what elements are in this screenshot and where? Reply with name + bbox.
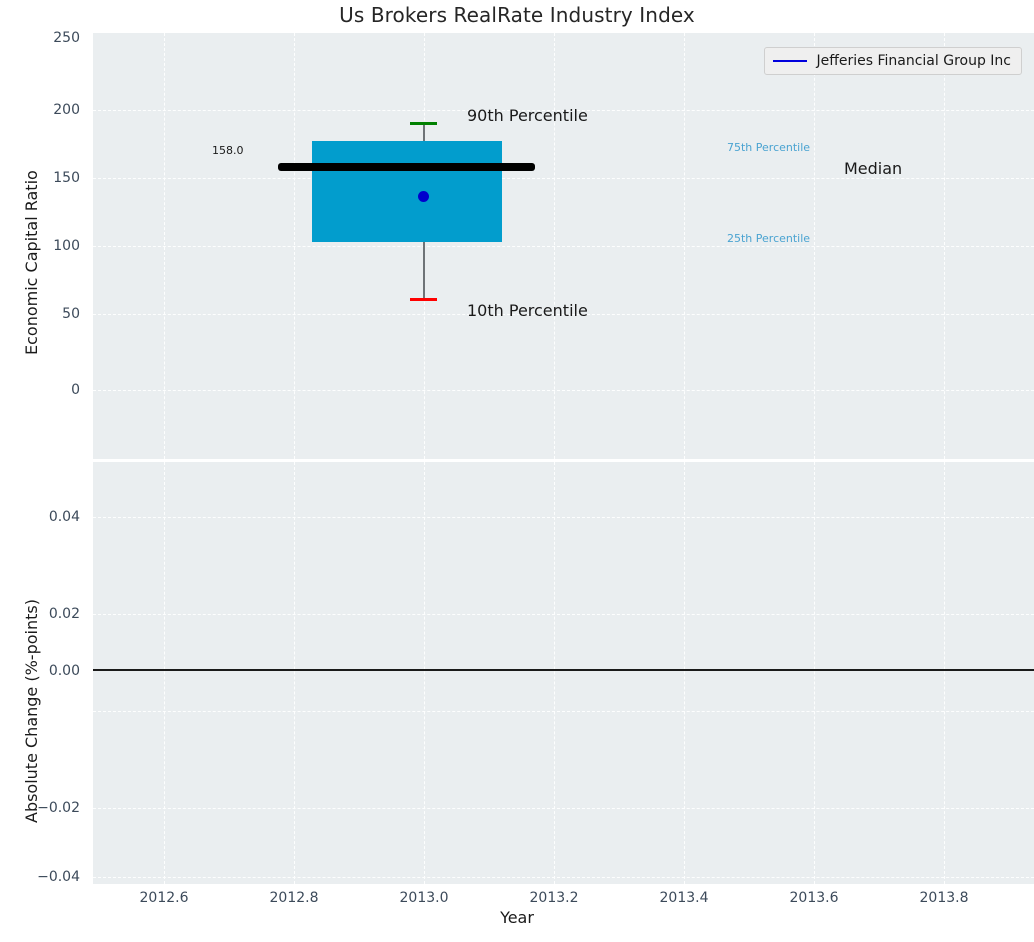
gridline-v-2012.8 (294, 462, 295, 884)
gridline-v-2012.8 (294, 33, 295, 459)
gridline-h-150 (93, 178, 1034, 179)
xtick-2013.0: 2013.0 (400, 890, 449, 906)
plot-area-absolute-change (93, 462, 1034, 884)
p10-cap-icon (410, 298, 437, 301)
median-bar (278, 163, 535, 171)
legend[interactable]: Jefferies Financial Group Inc (764, 47, 1022, 75)
company-value-dot (418, 191, 429, 202)
p90-label: 90th Percentile (467, 106, 588, 125)
ytick-200: 200 (0, 102, 80, 118)
gridline-v-2013.8 (944, 33, 945, 459)
xtick-2013.4: 2013.4 (660, 890, 709, 906)
ytick-0.04: 0.04 (0, 509, 80, 525)
gridline-v-2013.2 (554, 462, 555, 884)
gridline-v-2013.4 (684, 462, 685, 884)
zero-reference-line (93, 669, 1034, 671)
y-axis-label-top: Economic Capital Ratio (22, 170, 41, 355)
ytick-0: 0 (0, 382, 80, 398)
median-value-label: 158.0 (212, 144, 244, 157)
p90-cap-icon (410, 122, 437, 125)
y-axis-label-bottom: Absolute Change (%-points) (22, 599, 41, 823)
figure-canvas: Us Brokers RealRate Industry Index 158.0… (0, 0, 1034, 942)
box-iqr (312, 141, 502, 242)
gridline-v-2013.4 (684, 33, 685, 459)
ytick-250: 250 (0, 30, 80, 46)
gridline-h-0.02 (93, 614, 1034, 615)
gridline-v-2013.6 (814, 33, 815, 459)
gridline-h--0.04 (93, 877, 1034, 878)
xtick-2013.8: 2013.8 (920, 890, 969, 906)
gridline-h--0.02 (93, 808, 1034, 809)
gridline-v-2013.8 (944, 462, 945, 884)
x-axis-label: Year (0, 908, 1034, 927)
gridline-v-2013.2 (554, 33, 555, 459)
xtick-2012.6: 2012.6 (140, 890, 189, 906)
xtick-2013.2: 2013.2 (530, 890, 579, 906)
p10-label: 10th Percentile (467, 301, 588, 320)
gridline-v-2012.6 (164, 462, 165, 884)
gridline-v-2013.0 (424, 462, 425, 884)
gridline-h-0.00 (93, 711, 1034, 712)
xtick-2012.8: 2012.8 (270, 890, 319, 906)
ytick--0.04: −0.04 (0, 869, 80, 885)
p25-label: 25th Percentile (727, 232, 810, 245)
gridline-h-100 (93, 246, 1034, 247)
y-axis-ticks: 250 200 150 100 50 0 0.04 0.02 0.00 −0.0… (0, 0, 85, 942)
page-title: Us Brokers RealRate Industry Index (0, 3, 1034, 27)
gridline-h-0.04 (93, 517, 1034, 518)
legend-line-icon (773, 60, 807, 62)
gridline-v-2013.6 (814, 462, 815, 884)
legend-item-label: Jefferies Financial Group Inc (816, 53, 1011, 69)
plot-area-economic-capital-ratio: 158.0 90th Percentile 10th Percentile Me… (93, 33, 1034, 459)
xtick-2013.6: 2013.6 (790, 890, 839, 906)
p75-label: 75th Percentile (727, 141, 810, 154)
gridline-h-0 (93, 390, 1034, 391)
gridline-v-2012.6 (164, 33, 165, 459)
median-label: Median (844, 159, 902, 178)
